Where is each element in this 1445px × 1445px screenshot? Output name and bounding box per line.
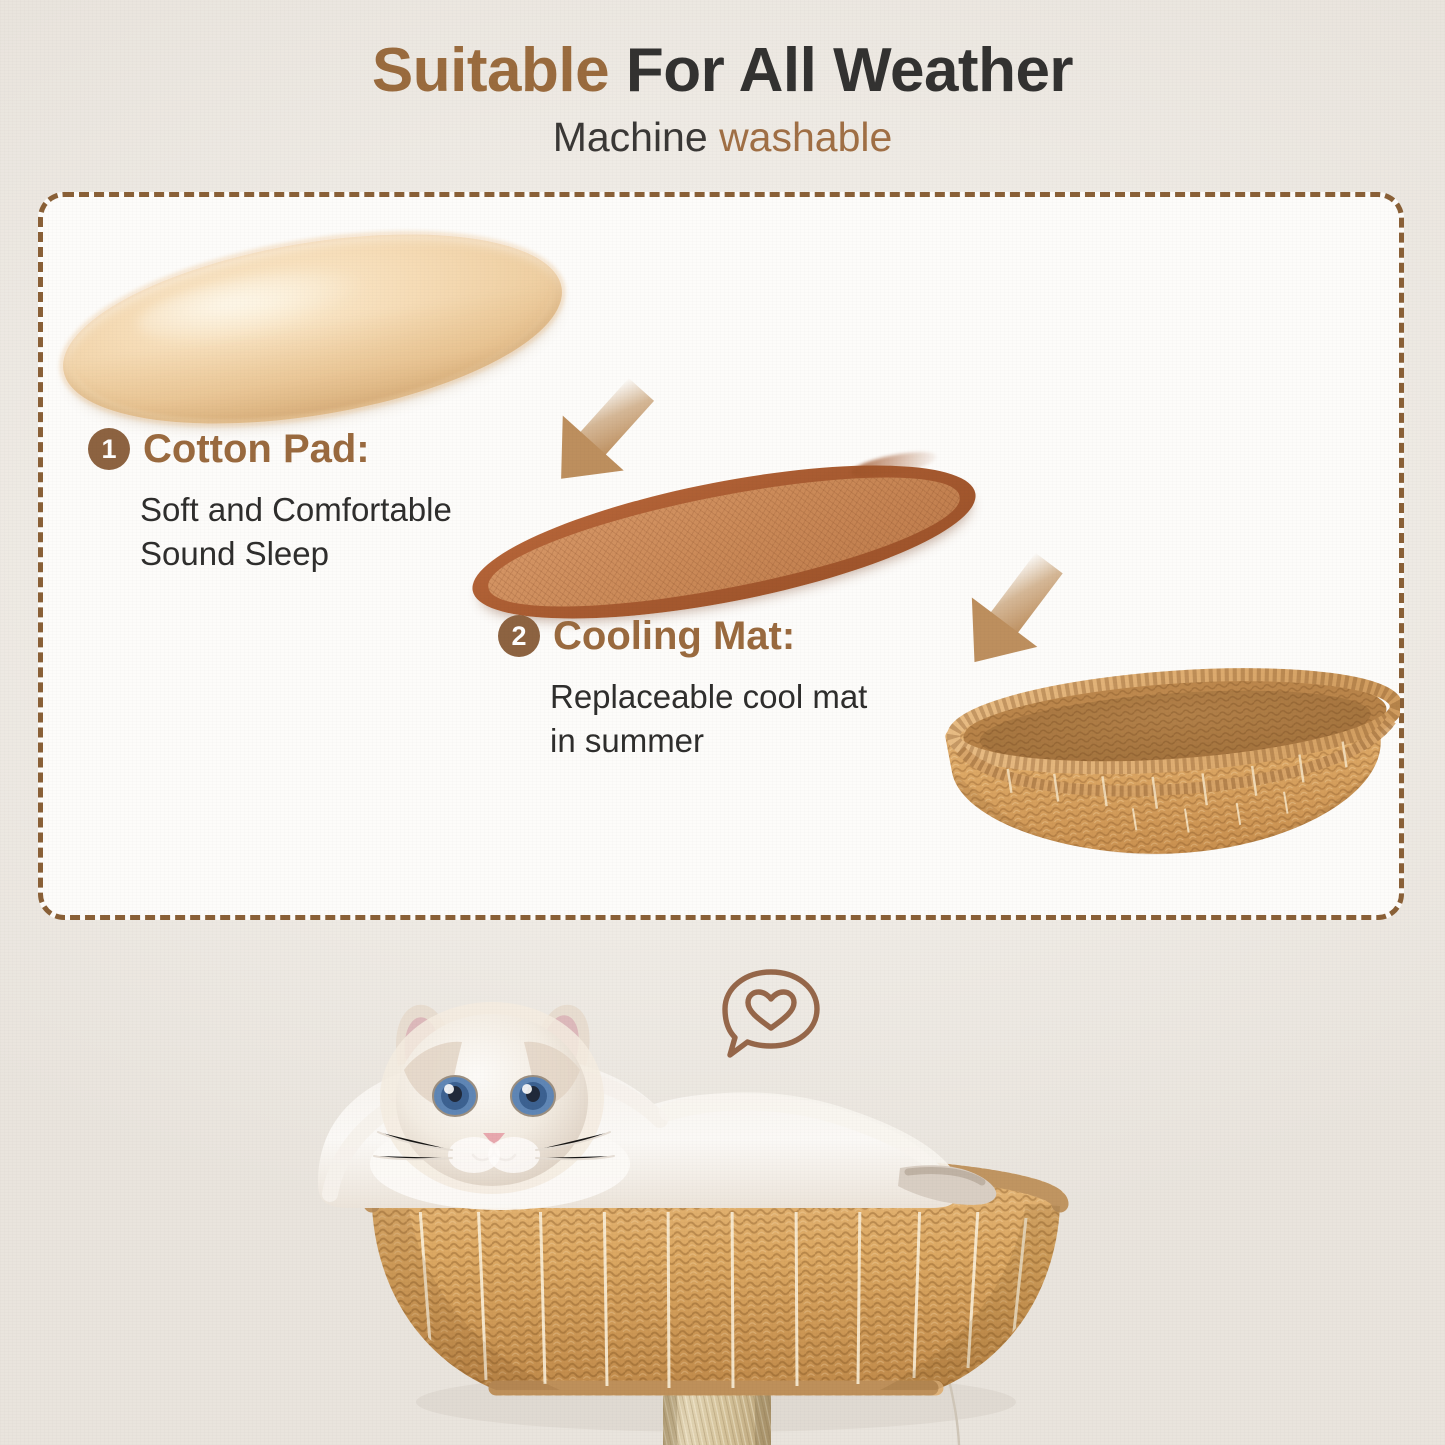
subtitle-plain: Machine <box>553 114 719 160</box>
page-subtitle: Machine washable <box>0 115 1445 160</box>
title-accent: Suitable <box>372 36 609 105</box>
feature-1-heading: Cotton Pad: <box>143 428 370 470</box>
heart-speech-bubble-icon <box>716 966 826 1064</box>
feature-2-heading: Cooling Mat: <box>553 615 795 657</box>
feature-2-heading-row: 2 Cooling Mat: <box>498 615 867 657</box>
feature-2-number-badge: 2 <box>498 615 540 657</box>
feature-1-block: 1 Cotton Pad: Soft and Comfortable Sound… <box>88 428 452 575</box>
page-title: Suitable For All Weather <box>0 38 1445 103</box>
arrow-mat-to-basket-icon <box>930 548 1090 683</box>
feature-1-number-badge: 1 <box>88 428 130 470</box>
header: Suitable For All Weather Machine washabl… <box>0 38 1445 160</box>
infographic-canvas: Suitable For All Weather Machine washabl… <box>0 0 1445 1445</box>
feature-1-heading-row: 1 Cotton Pad: <box>88 428 452 470</box>
feature-1-body: Soft and Comfortable Sound Sleep <box>140 488 452 575</box>
ragdoll-cat <box>318 1002 996 1210</box>
arrow-pad-to-mat-icon <box>520 372 680 502</box>
feature-2-body: Replaceable cool mat in summer <box>550 675 867 762</box>
woven-basket-image <box>930 658 1400 876</box>
feature-2-block: 2 Cooling Mat: Replaceable cool mat in s… <box>498 615 867 762</box>
subtitle-accent: washable <box>719 114 892 160</box>
title-plain: For All Weather <box>609 36 1073 105</box>
